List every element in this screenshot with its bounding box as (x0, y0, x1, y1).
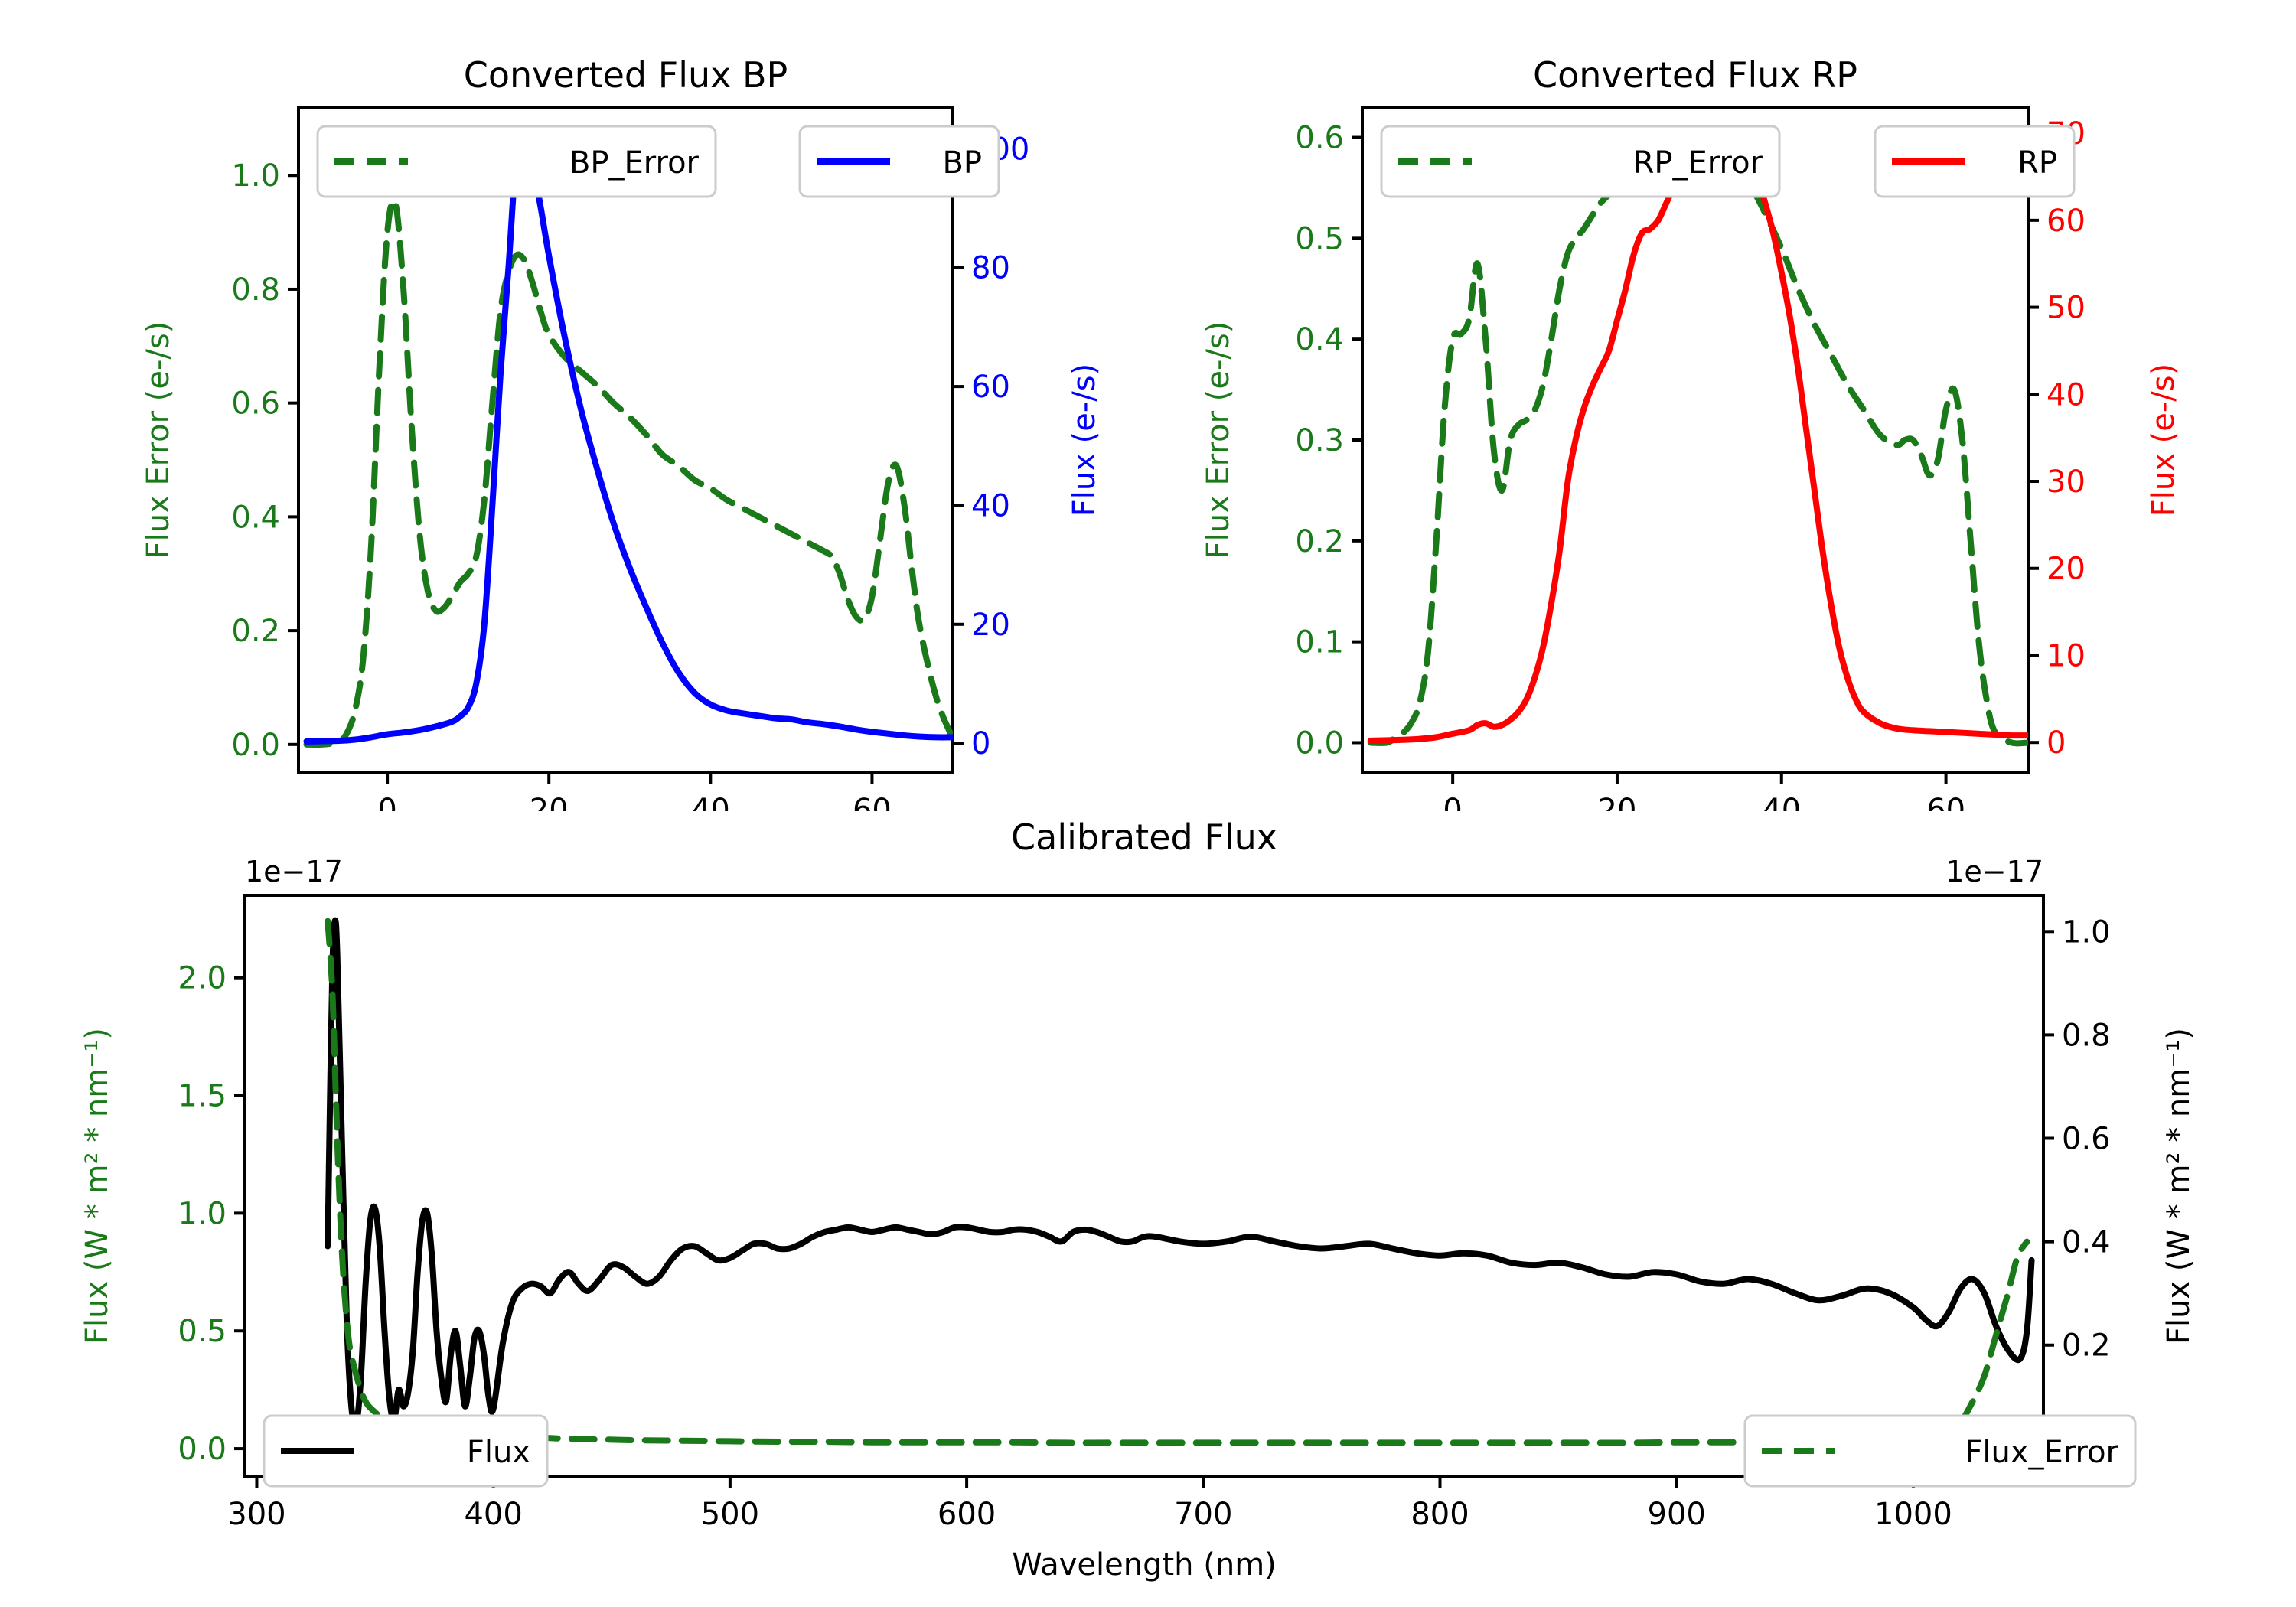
legend-label-rp: RP (2017, 145, 2057, 181)
left-y-tick-label: 0.3 (1295, 423, 1344, 458)
left-y-tick-label: 1.0 (178, 1196, 227, 1231)
series-rp_error (1371, 160, 2028, 744)
right-y-tick-label: 30 (2047, 464, 2086, 500)
right-y-tick-label: 20 (971, 608, 1010, 643)
panel-calibrated-flux: Calibrated Flux1e−171e−17300400500600700… (0, 811, 2296, 1607)
right-y-tick-label: 20 (2047, 552, 2086, 587)
legend-label-bp_error: BP_Error (569, 145, 700, 181)
rp-chart-svg: Converted Flux RP0204060Pseudo-wavelengt… (1133, 46, 2296, 811)
x-tick-label: 40 (691, 793, 730, 811)
left-y-tick-label: 0.6 (1295, 121, 1344, 156)
left-y-tick-label: 0.4 (231, 500, 280, 535)
right-y-tick-label: 80 (971, 251, 1010, 286)
left-y-tick-label: 0.0 (178, 1432, 227, 1467)
x-tick-label: 20 (530, 793, 569, 811)
x-tick-label: 0 (1443, 793, 1462, 811)
right-y-tick-label: 0.2 (2062, 1328, 2111, 1364)
plot-frame (1362, 107, 2028, 773)
left-y-tick-label: 0.1 (1295, 625, 1344, 660)
right-y-tick-label: 60 (2047, 204, 2086, 239)
x-tick-label: 60 (1926, 793, 1965, 811)
left-y-tick-label: 1.5 (178, 1079, 227, 1114)
x-tick-label: 600 (938, 1497, 996, 1532)
right-y-tick-label: 10 (2047, 638, 2086, 673)
right-y-axis-label: Flux (e-/s) (1067, 363, 1102, 517)
right-y-tick-label: 50 (2047, 291, 2086, 326)
x-tick-label: 40 (1762, 793, 1801, 811)
x-axis-label: Wavelength (nm) (1012, 1547, 1277, 1583)
left-y-tick-label: 0.0 (1295, 725, 1344, 761)
right-y-tick-label: 1.0 (2062, 914, 2111, 950)
x-tick-label: 400 (464, 1497, 522, 1532)
left-y-tick-label: 0.0 (231, 728, 280, 763)
bp-chart-svg: Converted Flux BP0204060Pseudo-wavelengt… (0, 46, 1133, 811)
legend-label-flux_error: Flux_Error (1965, 1435, 2118, 1470)
x-tick-label: 20 (1598, 793, 1637, 811)
left-y-tick-label: 0.5 (178, 1314, 227, 1349)
x-tick-label: 500 (701, 1497, 759, 1532)
left-y-tick-label: 0.5 (1295, 221, 1344, 256)
series-bp_error (307, 200, 953, 745)
panel-converted-flux-rp: Converted Flux RP0204060Pseudo-wavelengt… (1133, 46, 2296, 811)
x-tick-label: 60 (853, 793, 892, 811)
series-bp (307, 142, 953, 741)
right-y-tick-label: 0.4 (2062, 1225, 2111, 1260)
left-axis-offset-label: 1e−17 (245, 855, 343, 888)
chart-title: Calibrated Flux (1011, 817, 1277, 858)
left-y-tick-label: 0.8 (231, 272, 280, 308)
right-y-tick-label: 0 (2047, 725, 2066, 761)
left-y-tick-label: 1.0 (231, 158, 280, 194)
series-flux (328, 921, 2031, 1427)
x-tick-label: 800 (1411, 1497, 1469, 1532)
left-y-tick-label: 0.2 (1295, 524, 1344, 559)
x-tick-label: 900 (1648, 1497, 1706, 1532)
legend-label-rp_error: RP_Error (1633, 145, 1763, 181)
calibrated-chart-svg: Calibrated Flux1e−171e−17300400500600700… (0, 811, 2296, 1607)
left-y-axis-label: Flux Error (e-/s) (1201, 321, 1236, 559)
panel-converted-flux-bp: Converted Flux BP0204060Pseudo-wavelengt… (0, 46, 1133, 811)
legend-label-flux: Flux (467, 1435, 530, 1470)
x-tick-label: 1000 (1874, 1497, 1952, 1532)
legend-label-bp: BP (942, 145, 982, 181)
right-y-tick-label: 0.8 (2062, 1018, 2111, 1053)
x-tick-label: 700 (1174, 1497, 1232, 1532)
chart-title: Converted Flux BP (464, 54, 788, 96)
right-y-tick-label: 0 (971, 726, 990, 761)
series-flux_error (328, 921, 2027, 1443)
left-y-tick-label: 0.4 (1295, 322, 1344, 357)
left-y-axis-label: Flux (W * m² * nm⁻¹) (80, 1028, 115, 1345)
x-tick-label: 0 (377, 793, 396, 811)
right-y-tick-label: 40 (971, 488, 1010, 523)
left-y-axis-label: Flux Error (e-/s) (141, 321, 176, 559)
left-y-tick-label: 0.2 (231, 614, 280, 649)
x-tick-label: 300 (227, 1497, 285, 1532)
series-rp (1371, 137, 2028, 741)
chart-title: Converted Flux RP (1533, 54, 1857, 96)
right-y-tick-label: 60 (971, 370, 1010, 405)
right-y-tick-label: 40 (2047, 377, 2086, 412)
right-axis-offset-label: 1e−17 (1945, 855, 2043, 888)
plot-frame (245, 895, 2043, 1477)
left-y-tick-label: 2.0 (178, 961, 227, 996)
left-y-tick-label: 0.6 (231, 386, 280, 422)
right-y-axis-label: Flux (e-/s) (2146, 363, 2181, 517)
right-y-axis-label: Flux (W * m² * nm⁻¹) (2161, 1028, 2197, 1345)
right-y-tick-label: 0.6 (2062, 1122, 2111, 1157)
figure-canvas: Converted Flux BP0204060Pseudo-wavelengt… (0, 0, 2296, 1607)
